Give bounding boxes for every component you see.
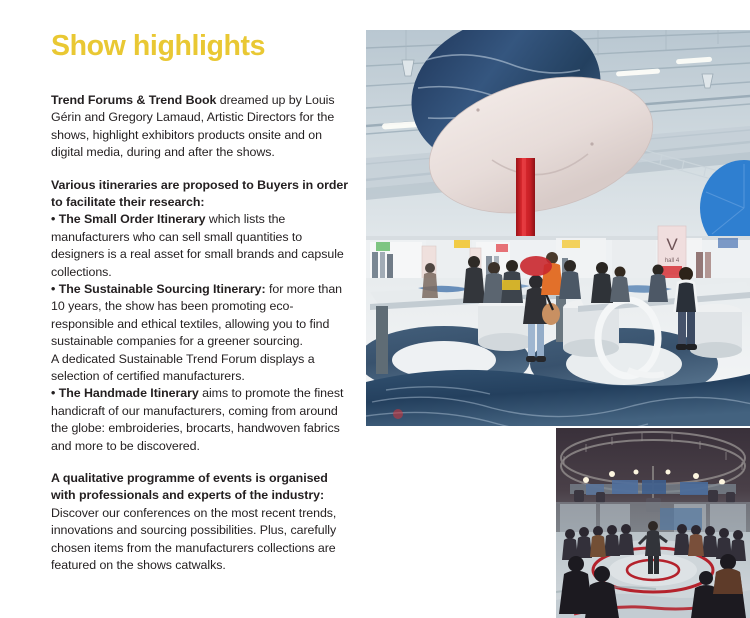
itineraries-heading: Various itineraries are proposed to Buye… xyxy=(51,177,351,212)
itinerary-sustainable-label: The Sustainable Sourcing Itinerary: xyxy=(55,282,265,296)
programme-bold-lead: A qualitative programme of events is org… xyxy=(51,471,328,502)
programme-paragraph: A qualitative programme of events is org… xyxy=(51,470,351,574)
intro-paragraph: Trend Forums & Trend Book dreamed up by … xyxy=(51,92,351,162)
itinerary-item-handmade: • The Handmade Itinerary aims to promote… xyxy=(51,385,351,455)
programme-text: Discover our conferences on the most rec… xyxy=(51,506,336,572)
main-exhibition-photo: V hall 4 xyxy=(366,30,750,426)
itinerary-small-order-label: The Small Order Itinerary xyxy=(55,212,205,226)
itineraries-heading-text: Various itineraries are proposed to Buye… xyxy=(51,178,348,209)
article-text-column: Show highlights Trend Forums & Trend Boo… xyxy=(51,32,351,574)
intro-bold-lead: Trend Forums & Trend Book xyxy=(51,93,216,107)
conference-catwalk-photo xyxy=(556,428,750,618)
itinerary-item-sustainable-sourcing: • The Sustainable Sourcing Itinerary: fo… xyxy=(51,281,351,351)
itinerary-item-small-order: • The Small Order Itinerary which lists … xyxy=(51,211,351,281)
page-title: Show highlights xyxy=(51,32,351,62)
itinerary-handmade-label: The Handmade Itinerary xyxy=(55,386,198,400)
svg-text:hall 4: hall 4 xyxy=(665,258,680,264)
svg-text:V: V xyxy=(666,235,678,254)
sustainable-trend-forum-note: A dedicated Sustainable Trend Forum disp… xyxy=(51,351,351,386)
